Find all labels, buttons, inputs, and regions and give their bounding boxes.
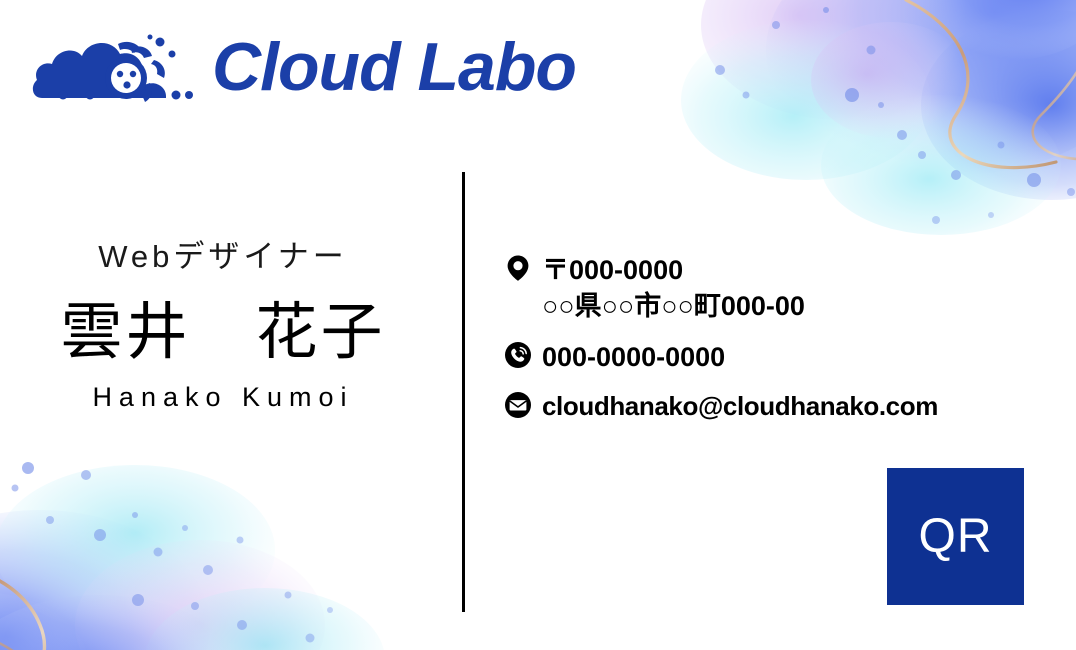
qr-label: QR [919,513,993,561]
person-name-roman: Hanako Kumoi [0,381,446,413]
vertical-divider [462,172,465,612]
phone-text: 000-0000-0000 [542,339,725,375]
address-text: 〒000-0000 ○○県○○市○○町000-00 [542,252,805,325]
brand-wordmark: Cloud Labo [212,33,576,101]
identity-block: Webデザイナー 雲井 花子 Hanako Kumoi [0,238,446,414]
contact-row-email: cloudhanako@cloudhanako.com [504,389,1024,424]
phone-icon [504,341,532,369]
business-card: Cloud Labo Webデザイナー 雲井 花子 Hanako Kumoi 〒… [0,0,1076,650]
email-text: cloudhanako@cloudhanako.com [542,389,938,424]
address-postal-code: 〒000-0000 [542,255,683,285]
address-street: ○○県○○市○○町000-00 [542,288,805,324]
person-name-japanese: 雲井 花子 [0,299,446,367]
contact-row-address: 〒000-0000 ○○県○○市○○町000-00 [504,252,1024,325]
contact-row-phone: 000-0000-0000 [504,339,1024,375]
brand-logo: Cloud Labo [30,28,576,106]
location-pin-icon [504,254,532,282]
job-title: Webデザイナー [0,238,446,275]
watercolor-decoration-bottom-left [0,410,390,650]
cloud-sun-face-logo-icon [30,28,198,106]
contact-block: 〒000-0000 ○○県○○市○○町000-00 000-0000-0000 … [504,252,1024,438]
qr-code-placeholder[interactable]: QR [887,468,1024,605]
mail-icon [504,391,532,419]
watercolor-decoration-top-right [656,0,1076,270]
